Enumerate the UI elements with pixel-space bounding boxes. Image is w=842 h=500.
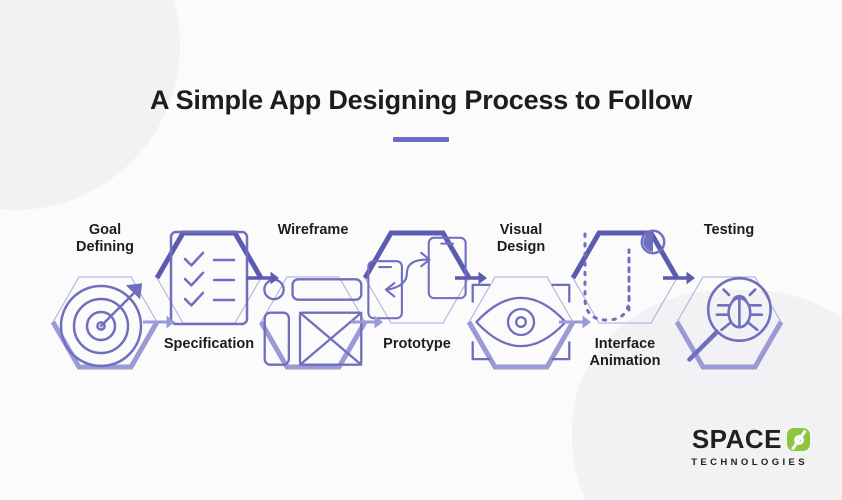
- arrow-right-icon-1: [143, 313, 177, 331]
- process-step-3: Wireframe: [261, 210, 365, 380]
- process-step-7: Testing: [677, 210, 781, 380]
- arrow-right-icon-4: [455, 269, 489, 287]
- logo-wordmark-row: SPACE: [691, 424, 810, 455]
- page-title: A Simple App Designing Process to Follow: [0, 85, 842, 116]
- arrow-right-icon-5: [559, 313, 593, 331]
- step-label-7: Testing: [655, 222, 803, 239]
- arrow-right-icon-3: [351, 313, 385, 331]
- logo-subtitle: TECHNOLOGIES: [691, 457, 810, 468]
- process-step-1: GoalDefining: [53, 210, 157, 380]
- title-underline-rule: [393, 137, 449, 142]
- arrow-right-icon-2: [247, 269, 281, 287]
- space-o-mark-icon: [787, 428, 810, 451]
- process-flow: GoalDefining Specification Wireframe: [0, 210, 842, 390]
- hexagon-shape-1: [53, 270, 157, 374]
- infographic-canvas: A Simple App Designing Process to Follow…: [0, 0, 842, 500]
- step-label-line1: Testing: [655, 222, 803, 239]
- brand-logo: SPACE TECHNOLOGIES: [691, 424, 810, 468]
- target-icon: [53, 270, 157, 374]
- arrow-right-icon-6: [663, 269, 697, 287]
- logo-word: SPACE: [692, 424, 782, 455]
